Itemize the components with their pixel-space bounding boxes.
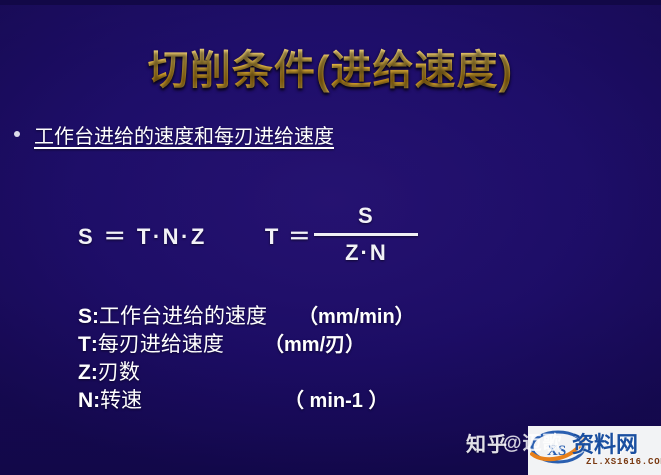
legend-description: 工作台进给的速度 <box>99 300 267 330</box>
formula-secondary-lhs: T ＝ <box>265 219 313 251</box>
legend-row: Z : 刃数 <box>78 356 267 384</box>
bullet-text: 工作台进给的速度和每刃进给速度 <box>34 124 334 150</box>
formula-primary: S ＝ T·N·Z <box>78 219 207 251</box>
legend-symbol: T <box>78 333 91 357</box>
legend-symbol: Z <box>78 361 91 385</box>
legend-unit: （mm/刃） <box>264 328 365 357</box>
legend-separator: : <box>92 305 99 329</box>
slide-canvas: 切削条件(进给速度) 切削条件(进给速度) 工作台进给的速度和每刃进给速度 S … <box>0 0 661 475</box>
slide-top-band <box>0 0 661 5</box>
source-site-url: ZL.XS1616.COM <box>586 457 661 467</box>
fraction-denominator: Z·N <box>345 239 388 267</box>
legend-unit: （mm/min） <box>298 300 415 329</box>
fraction: S Z·N <box>314 202 418 267</box>
bullet-row: 工作台进给的速度和每刃进给速度 <box>14 124 334 150</box>
bullet-dot-icon <box>14 131 20 137</box>
legend-separator: : <box>91 361 98 385</box>
zhihu-handle-watermark: @迈歌 <box>503 428 563 455</box>
legend-row: N : 转速 （ min-1 ） <box>78 384 267 412</box>
legend-row: T : 每刃进给速度 （mm/刃） <box>78 328 267 356</box>
fraction-bar <box>314 233 418 236</box>
source-site-name: 资料网 <box>572 427 638 459</box>
zhihu-watermark: 知乎 <box>466 428 508 457</box>
variable-legend: S : 工作台进给的速度 （mm/min） T : 每刃进给速度 （mm/刃） … <box>78 300 267 412</box>
legend-description: 刃数 <box>98 356 140 386</box>
legend-row: S : 工作台进给的速度 （mm/min） <box>78 300 267 328</box>
fraction-numerator: S <box>358 202 375 230</box>
legend-symbol: S <box>78 305 92 329</box>
formula-block: S ＝ T·N·Z T ＝ S Z·N <box>78 186 418 251</box>
legend-separator: : <box>91 333 98 357</box>
legend-description: 每刃进给速度 <box>98 328 224 358</box>
slide-title: 切削条件(进给速度) <box>0 44 661 96</box>
legend-description: 转速 <box>100 384 142 414</box>
legend-symbol: N <box>78 389 93 413</box>
formula-secondary: T ＝ S Z·N <box>265 202 419 267</box>
legend-unit: （ min-1 ） <box>284 384 388 413</box>
